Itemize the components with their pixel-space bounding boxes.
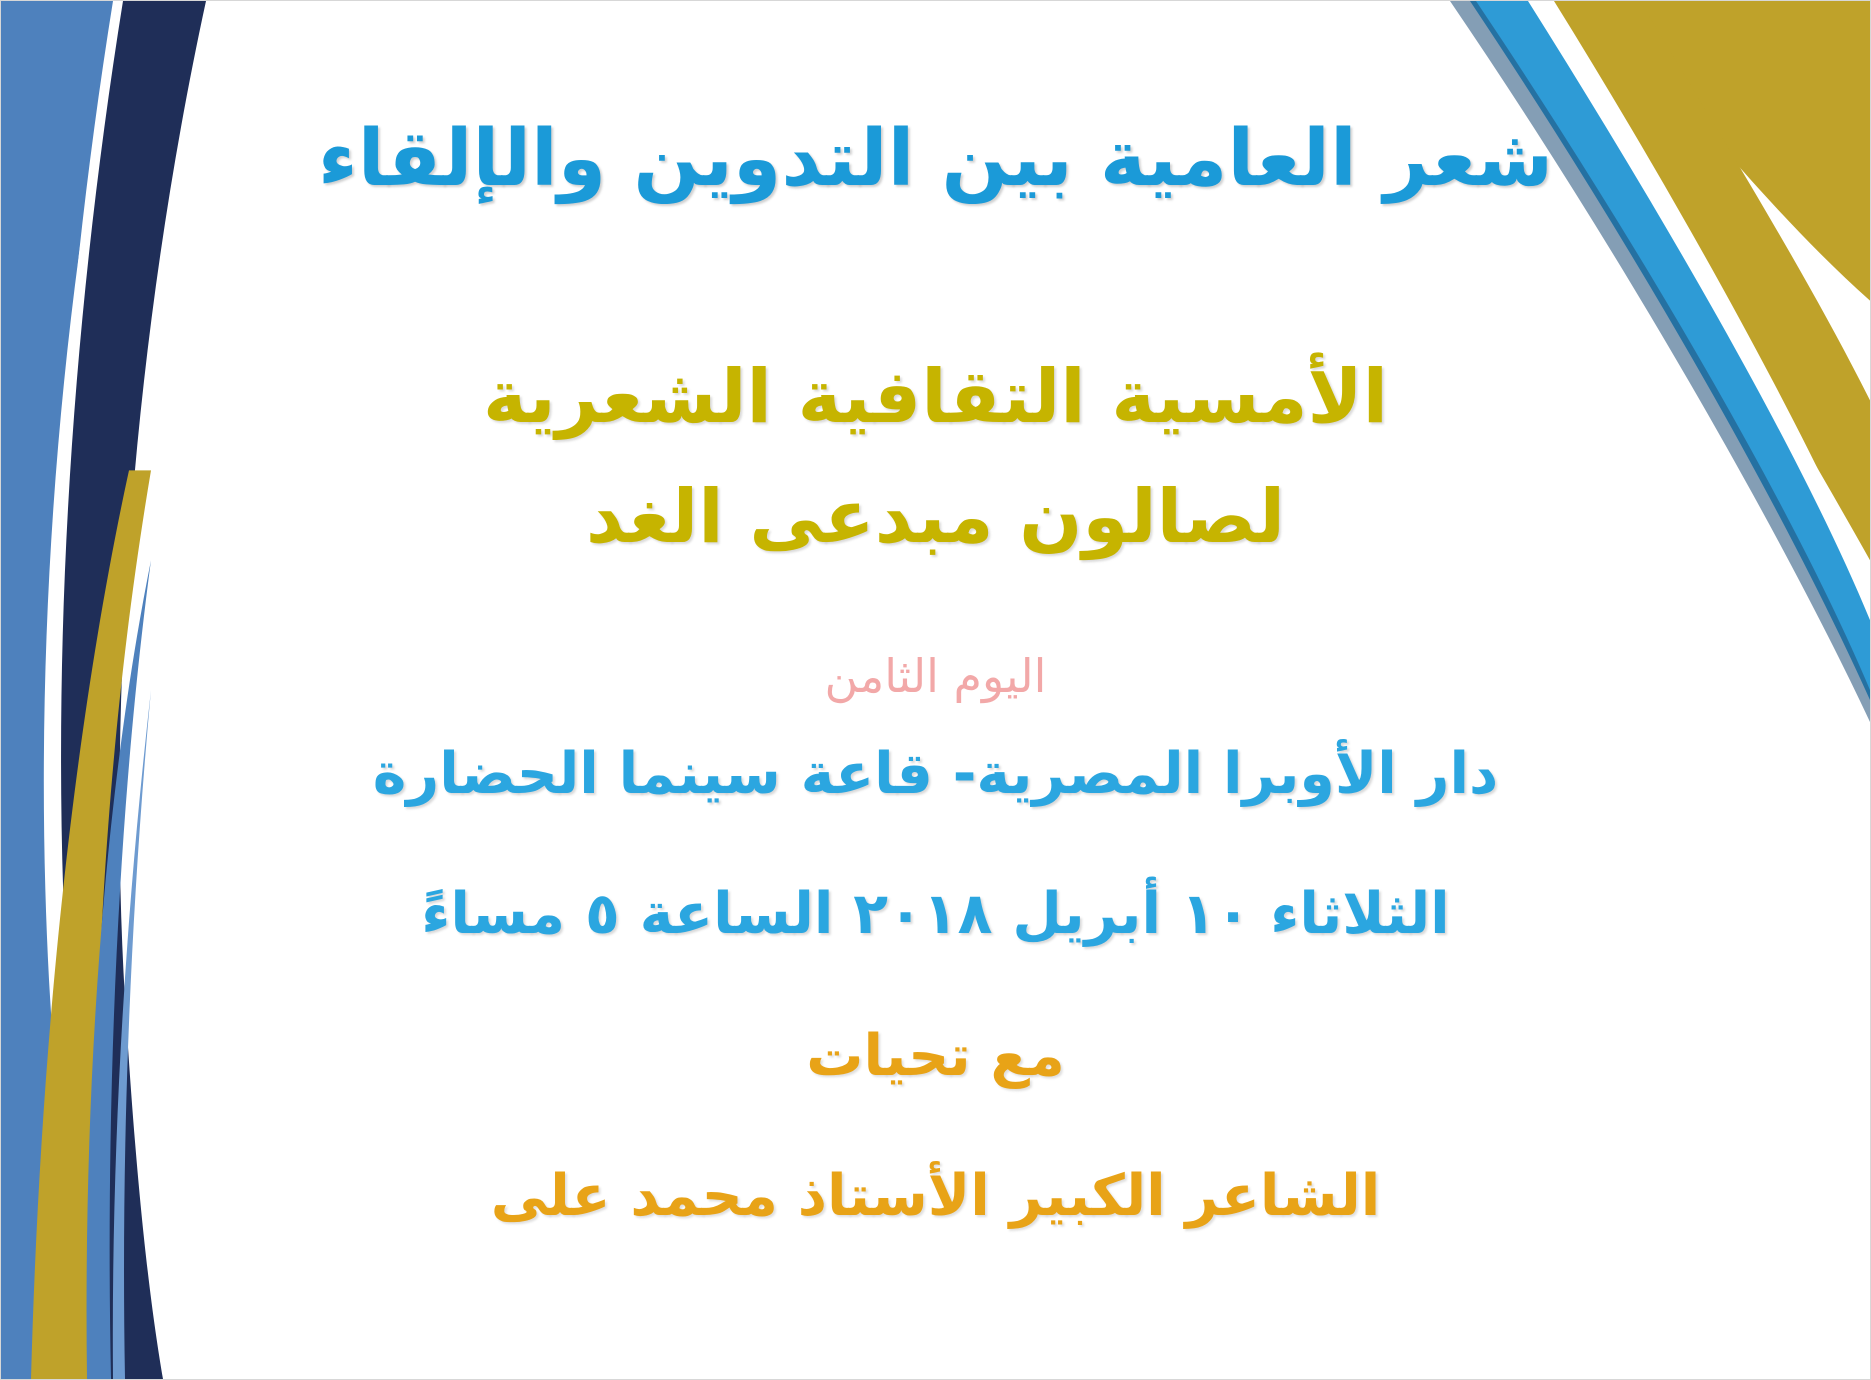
poet-name-text: الشاعر الكبير الأستاذ محمد على <box>1 1163 1870 1229</box>
venue-text: دار الأوبرا المصرية- قاعة سينما الحضارة <box>1 741 1870 807</box>
regards-text: مع تحيات <box>1 1023 1870 1089</box>
poster-content: شعر العامية بين التدوين والإلقاء الأمسية… <box>1 1 1870 1379</box>
watermark-text: اليوم الثامن <box>1 649 1870 703</box>
datetime-text: الثلاثاء ١٠ أبريل ٢٠١٨ الساعة ٥ مساءً <box>1 881 1870 947</box>
page-title: شعر العامية بين التدوين والإلقاء <box>1 119 1870 201</box>
event-poster-slide: شعر العامية بين التدوين والإلقاء الأمسية… <box>0 0 1871 1380</box>
subtitle-line-2: لصالون مبدعى الغد <box>1 479 1870 557</box>
subtitle-line-1: الأمسية التقافية الشعرية <box>1 359 1870 437</box>
